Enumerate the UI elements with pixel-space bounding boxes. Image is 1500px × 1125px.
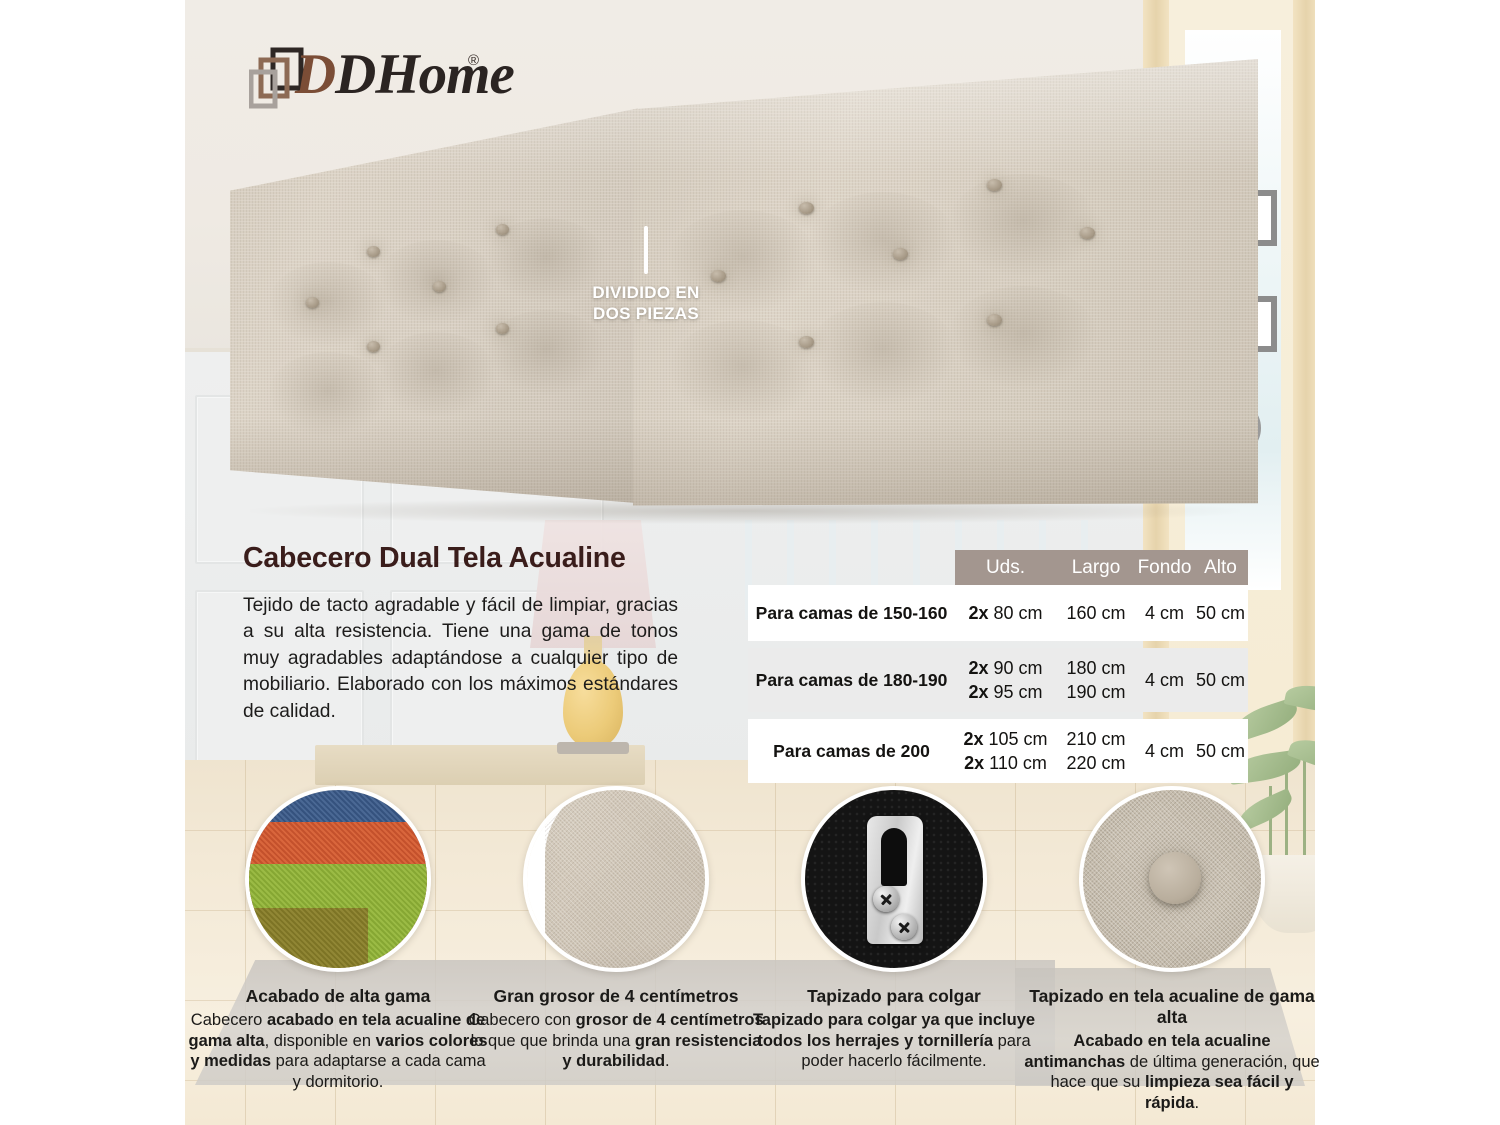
feature-body: Cabecero con grosor de 4 centímetros lo … [466,1010,766,1072]
feature-body: Acabado en tela acualine antimanchas de … [1022,1031,1322,1113]
tufted-button-fabric-icon [1079,786,1265,972]
table-cell-bed-size: Para camas de 200 [748,741,955,762]
phillips-screw [891,914,917,940]
tufting-button [711,270,726,282]
tufting-button [893,248,908,260]
feature-3: Tapizado para colgarTapizado para colgar… [744,786,1044,1072]
tufting-button [496,224,509,235]
table-cell-bed-size: Para camas de 180-190 [748,670,955,691]
tufting-button [1080,227,1095,239]
table-header-largo: Largo [1056,557,1136,579]
table-cell-bed-size: Para camas de 150-160 [748,603,955,624]
feature-title: Gran grosor de 4 centímetros [466,986,766,1007]
product-title: Cabecero Dual Tela Acualine [243,542,713,575]
phillips-screw [873,886,899,912]
fabric-thickness-icon [523,786,709,972]
infographic-canvas: DDHome ® [0,0,1500,1125]
feature-1: Acabado de alta gamaCabecero acabado en … [188,786,488,1092]
tufting-button [306,297,319,308]
table-header-uds: Uds. [955,557,1056,579]
specifications-table: Uds. Largo Fondo Alto Para camas de 150-… [748,550,1248,783]
table-cell-fondo: 4 cm [1136,668,1193,692]
table-cell-fondo: 4 cm [1136,739,1193,763]
table-header-fondo: Fondo [1136,557,1193,579]
table-body: Para camas de 150-1602x 80 cm160 cm4 cm5… [748,585,1248,783]
swatch-olive [245,908,368,972]
table-row: Para camas de 180-1902x 90 cm2x 95 cm180… [748,648,1248,712]
feature-title: Tapizado en tela acualine de gama alta [1022,986,1322,1028]
table-cell-largo: 180 cm190 cm [1056,656,1136,704]
table-row: Para camas de 150-1602x 80 cm160 cm4 cm5… [748,585,1248,641]
tufted-button [1149,852,1201,904]
table-row: Para camas de 2002x 105 cm2x 110 cm210 c… [748,719,1248,783]
bracket-keyhole-slot [881,828,907,886]
divided-in-two-overlay: DIVIDIDO EN DOS PIEZAS [592,228,700,324]
table-cell-alto: 50 cm [1193,668,1248,692]
tufting-button [799,202,814,214]
table-cell-largo: 160 cm [1056,601,1136,625]
feature-body: Tapizado para colgar ya que incluye todo… [744,1010,1044,1072]
wood-post [1293,0,1315,790]
table-cell-alto: 50 cm [1193,739,1248,763]
lamp-foot [557,742,629,754]
table-cell-largo: 210 cm220 cm [1056,727,1136,775]
divider-label-line1: DIVIDIDO EN [592,282,700,303]
divider-arrows [592,228,700,270]
feature-4: Tapizado en tela acualine de gama altaAc… [1022,786,1322,1113]
divider-label: DIVIDIDO EN DOS PIEZAS [592,282,700,324]
tufting-button [367,246,380,257]
table-cell-uds: 2x 80 cm [955,601,1056,625]
table-cell-uds: 2x 105 cm2x 110 cm [955,727,1056,775]
divider-label-line2: DOS PIEZAS [592,303,700,324]
feature-body: Cabecero acabado en tela acualine de gam… [188,1010,488,1092]
product-headboard-image [228,52,1258,522]
table-cell-fondo: 4 cm [1136,601,1193,625]
vertical-divider-icon [644,226,648,274]
table-cell-alto: 50 cm [1193,601,1248,625]
tufting-button [987,314,1002,326]
feature-title: Acabado de alta gama [188,986,488,1007]
table-header-alto: Alto [1193,557,1248,579]
table-header-row: Uds. Largo Fondo Alto [955,550,1248,585]
tufting-button [799,336,814,348]
tufting-button [367,341,380,352]
tufting-button [496,323,509,334]
fabric-edge [545,786,709,972]
wall-hanging-bracket-icon [801,786,987,972]
fabric-swatches-icon [245,786,431,972]
table-cell-uds: 2x 90 cm2x 95 cm [955,656,1056,704]
product-description: Tejido de tacto agradable y fácil de lim… [243,593,678,725]
tufting-button [987,179,1002,191]
tufting-button [433,281,446,292]
feature-title: Tapizado para colgar [744,986,1044,1007]
table-row-gap [748,641,1248,648]
table-row-gap [748,712,1248,719]
feature-2: Gran grosor de 4 centímetrosCabecero con… [466,786,766,1072]
